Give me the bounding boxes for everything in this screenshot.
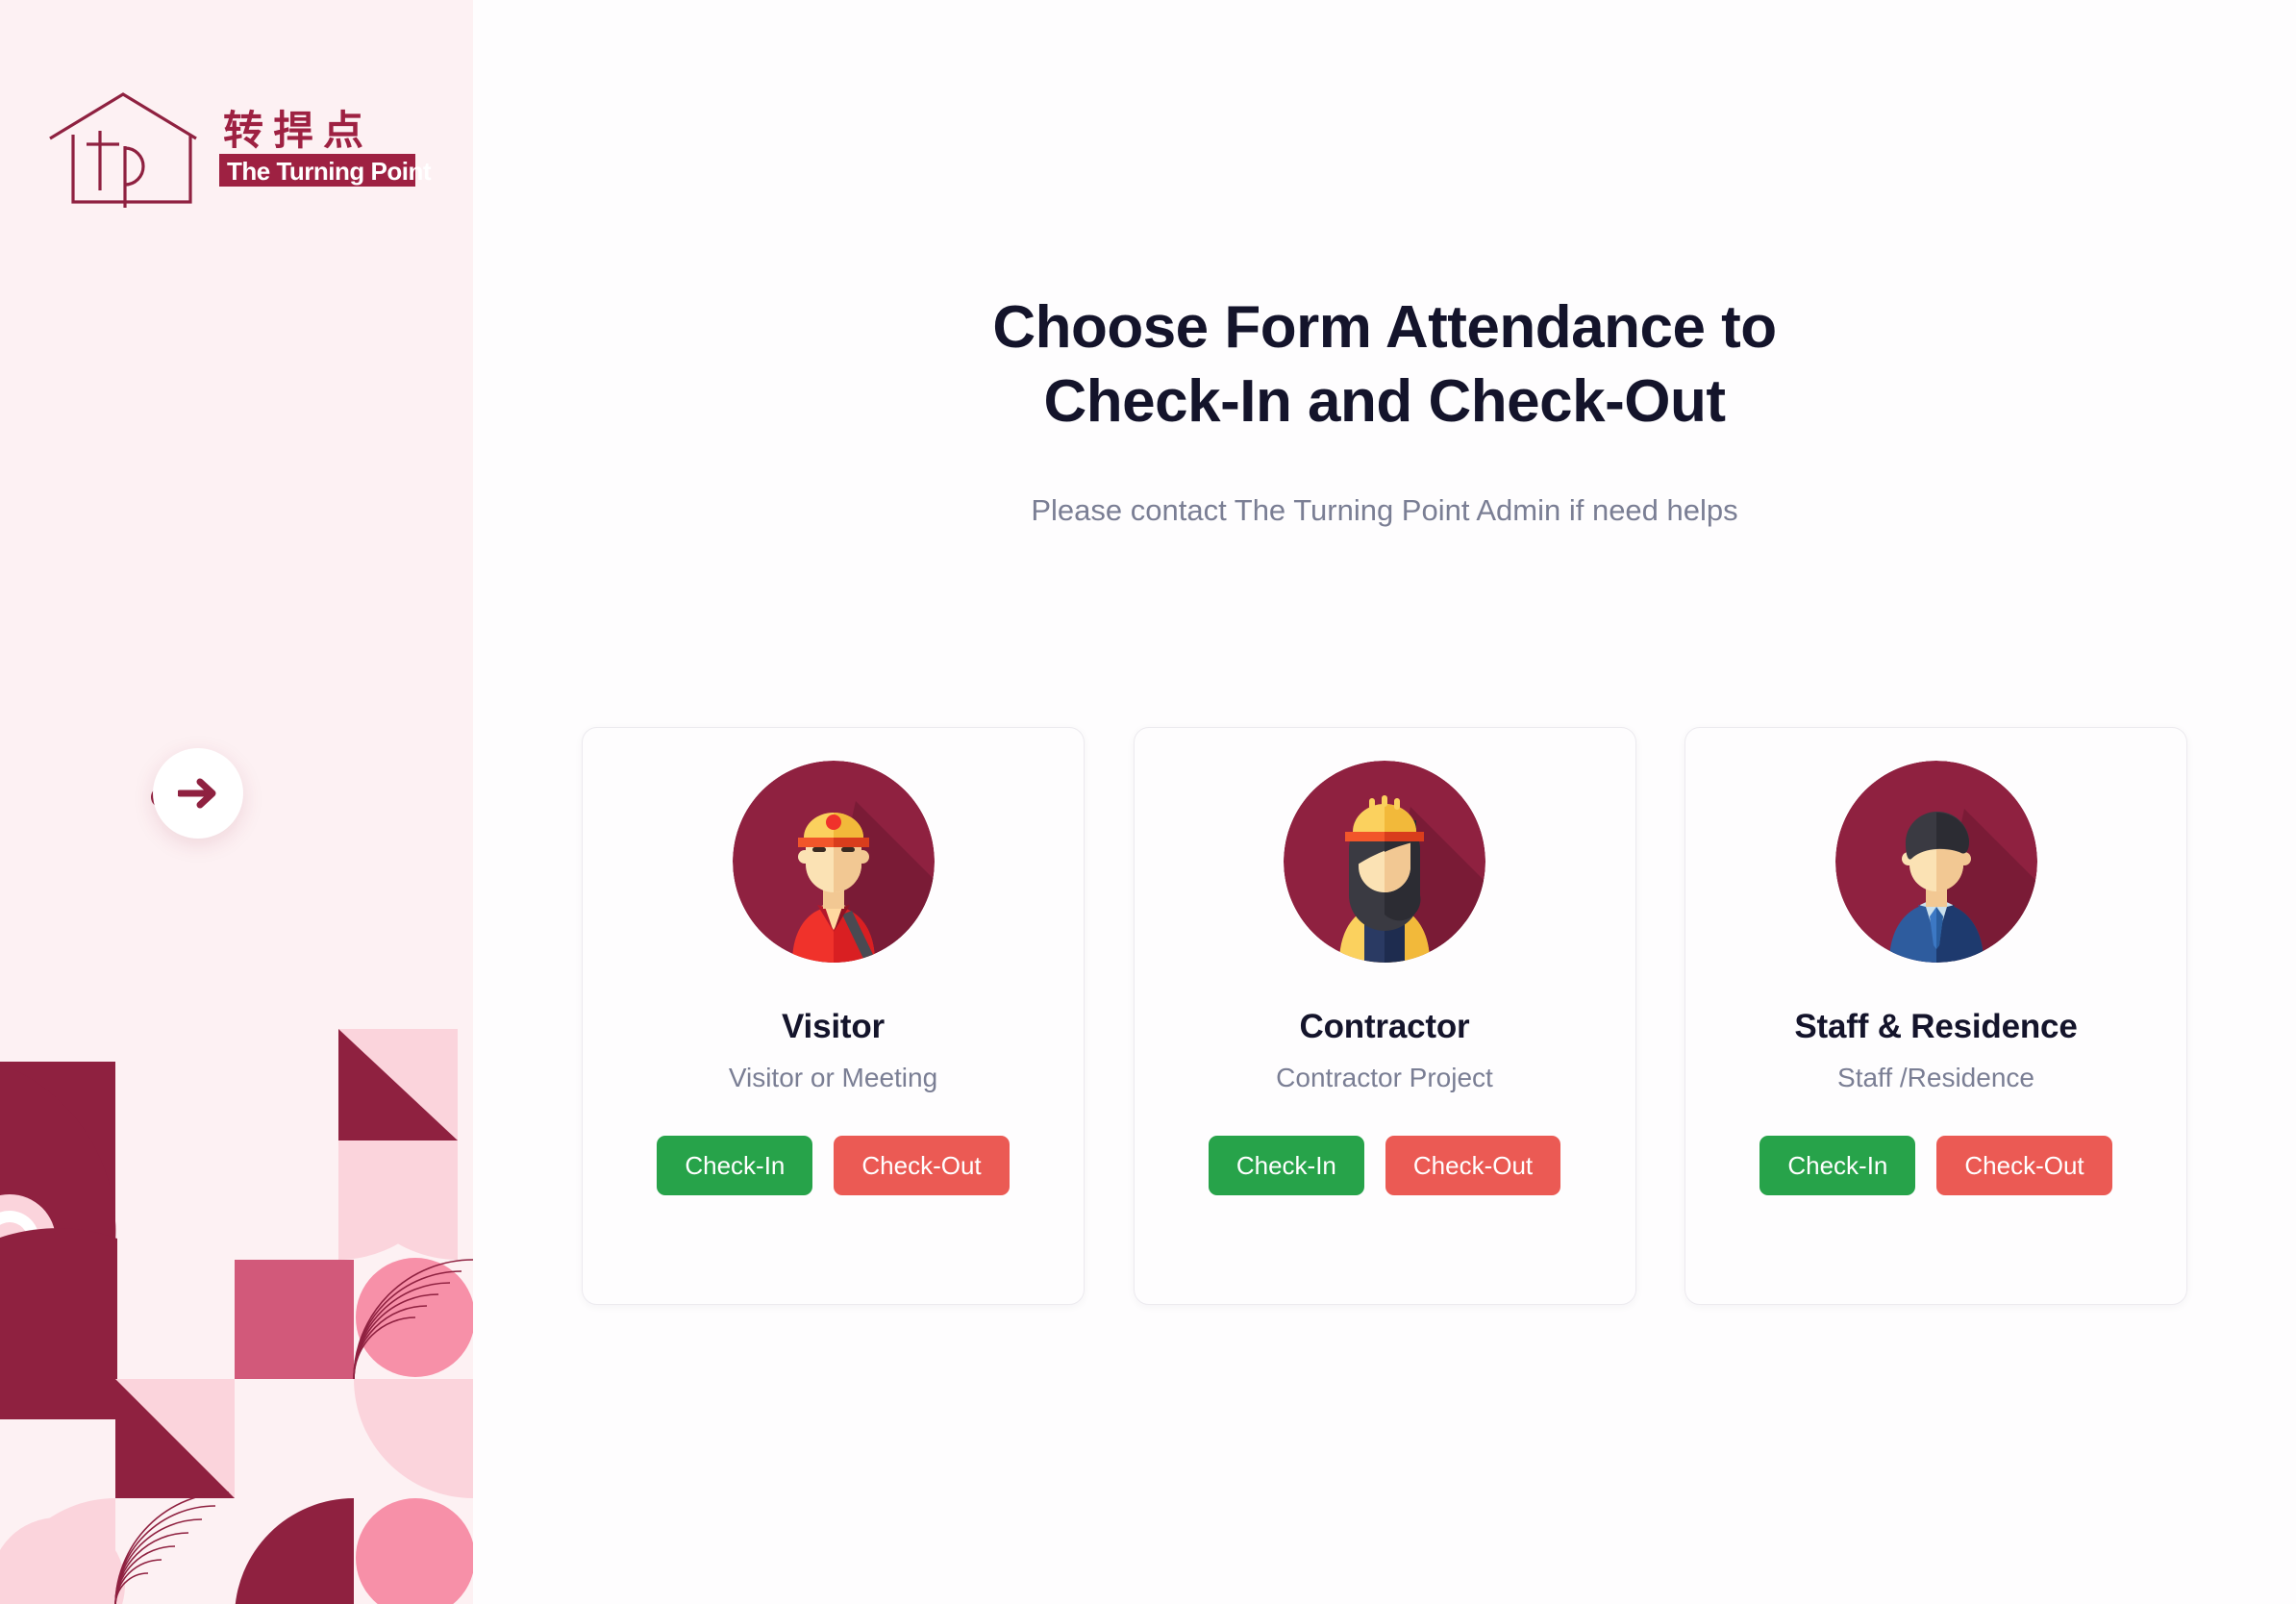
page-title: Choose Form Attendance to Check-In and C… (473, 290, 2296, 439)
card-actions: Check-In Check-Out (1759, 1136, 2111, 1195)
attendance-card-staff-residence[interactable]: Staff & Residence Staff /Residence Check… (1685, 727, 2187, 1305)
check-in-button-contractor[interactable]: Check-In (1209, 1136, 1364, 1195)
decorative-geometric-pattern (0, 1008, 473, 1604)
check-in-button-visitor[interactable]: Check-In (657, 1136, 812, 1195)
card-actions: Check-In Check-Out (657, 1136, 1009, 1195)
attendance-card-contractor[interactable]: Contractor Contractor Project Check-In C… (1134, 727, 1636, 1305)
svg-text:The Turning Point: The Turning Point (227, 157, 432, 186)
check-in-button-staff-residence[interactable]: Check-In (1759, 1136, 1915, 1195)
card-title: Visitor (782, 1008, 885, 1046)
check-out-button-visitor[interactable]: Check-Out (834, 1136, 1009, 1195)
check-out-button-contractor[interactable]: Check-Out (1385, 1136, 1560, 1195)
svg-text:转捍点: 转捍点 (223, 107, 373, 154)
card-description: Visitor or Meeting (729, 1063, 937, 1093)
card-title: Staff & Residence (1794, 1008, 2077, 1046)
attendance-card-list: Visitor Visitor or Meeting Check-In Chec… (582, 727, 2187, 1305)
visitor-avatar-icon (733, 761, 935, 963)
attendance-card-visitor[interactable]: Visitor Visitor or Meeting Check-In Chec… (582, 727, 1085, 1305)
card-description: Contractor Project (1276, 1063, 1493, 1093)
page-subtitle: Please contact The Turning Point Admin i… (473, 493, 2296, 528)
staff-avatar-icon (1835, 761, 2037, 963)
card-description: Staff /Residence (1837, 1063, 2034, 1093)
sidebar: 转捍点 The Turning Point (0, 0, 473, 1604)
main-content: Choose Form Attendance to Check-In and C… (473, 0, 2296, 1604)
contractor-avatar-icon (1284, 761, 1485, 963)
check-out-button-staff-residence[interactable]: Check-Out (1936, 1136, 2111, 1195)
next-arrow-button[interactable] (153, 748, 243, 839)
card-title: Contractor (1300, 1008, 1470, 1046)
arrow-right-icon (178, 776, 218, 811)
brand-logo: 转捍点 The Turning Point (44, 88, 448, 213)
card-actions: Check-In Check-Out (1209, 1136, 1560, 1195)
